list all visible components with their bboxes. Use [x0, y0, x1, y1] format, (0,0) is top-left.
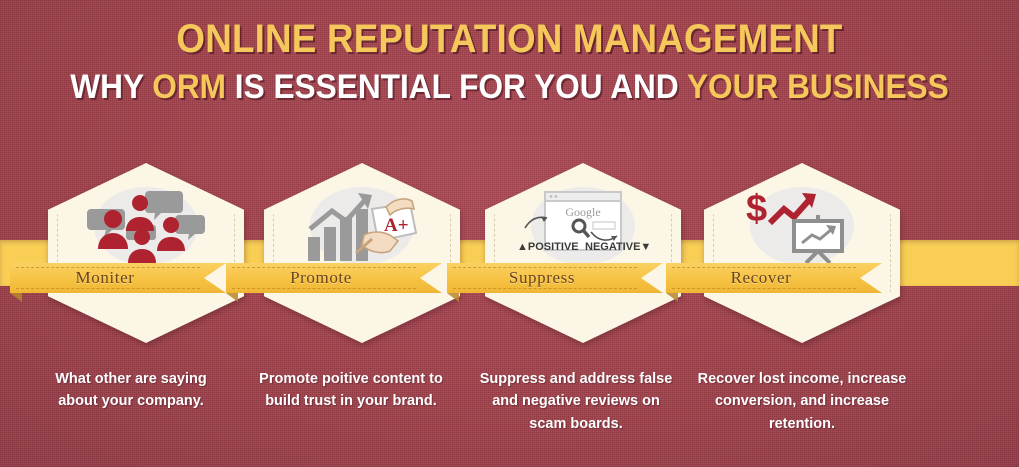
caption-line: Suppress and address false — [468, 368, 684, 390]
dollar-symbol: $ — [746, 189, 767, 230]
positive-label: ▲POSITIVE — [517, 241, 579, 253]
subtitle-part-1: ORM — [152, 68, 226, 106]
ribbon-moniter: Moniter — [10, 263, 226, 293]
step-card-recover[interactable]: $ Recover — [704, 163, 900, 343]
caption-line: conversion, and increase — [686, 390, 918, 412]
svg-text:A+: A+ — [384, 215, 409, 236]
caption-line: build trust in your brand. — [244, 390, 458, 412]
step-card-suppress[interactable]: Google ▲POSITIVE NEGATIVE▼ — [485, 163, 681, 343]
ribbon-promote: Promote — [226, 263, 442, 293]
caption-line: Recover lost income, increase — [686, 368, 918, 390]
caption-moniter: What other are saying about your company… — [26, 368, 236, 413]
caption-recover: Recover lost income, increase conversion… — [686, 368, 918, 435]
step-label: Promote — [226, 263, 416, 293]
infographic-canvas: ONLINE REPUTATION MANAGEMENT WHY ORM IS … — [0, 0, 1019, 467]
step-card-promote[interactable]: A+ Promote — [264, 163, 460, 343]
google-search-window-icon: Google ▲POSITIVE NEGATIVE▼ — [485, 185, 681, 267]
caption-suppress: Suppress and address false and negative … — [468, 368, 684, 435]
page-title: ONLINE REPUTATION MANAGEMENT — [41, 18, 978, 60]
caption-promote: Promote poitive content to build trust i… — [244, 368, 458, 413]
header-block: ONLINE REPUTATION MANAGEMENT WHY ORM IS … — [0, 18, 1019, 106]
negative-label: NEGATIVE▼ — [585, 241, 651, 253]
google-wordmark: Google — [565, 205, 600, 219]
people-speech-bubbles-icon — [48, 185, 244, 267]
page-subtitle: WHY ORM IS ESSENTIAL FOR YOU AND YOUR BU… — [36, 70, 984, 106]
caption-line: and negative reviews on — [468, 390, 684, 412]
ribbon-suppress: Suppress — [447, 263, 663, 293]
subtitle-part-2: IS ESSENTIAL FOR YOU AND — [226, 68, 687, 106]
caption-line: about your company. — [26, 390, 236, 412]
caption-line: Promote poitive content to — [244, 368, 458, 390]
step-card-moniter[interactable]: Moniter — [48, 163, 244, 343]
step-label: Moniter — [10, 263, 200, 293]
ribbon-recover: Recover — [666, 263, 882, 293]
caption-line: retention. — [686, 413, 918, 435]
dollar-growth-presentation-icon: $ — [704, 185, 900, 267]
bar-chart-growth-hand-grade-icon: A+ — [264, 185, 460, 267]
caption-line: scam boards. — [468, 413, 684, 435]
subtitle-part-3: YOUR BUSINESS — [687, 68, 949, 106]
steps-row: Moniter — [0, 163, 1019, 343]
step-label: Suppress — [447, 263, 637, 293]
caption-line: What other are saying — [26, 368, 236, 390]
step-label: Recover — [666, 263, 856, 293]
subtitle-part-0: WHY — [70, 68, 152, 106]
